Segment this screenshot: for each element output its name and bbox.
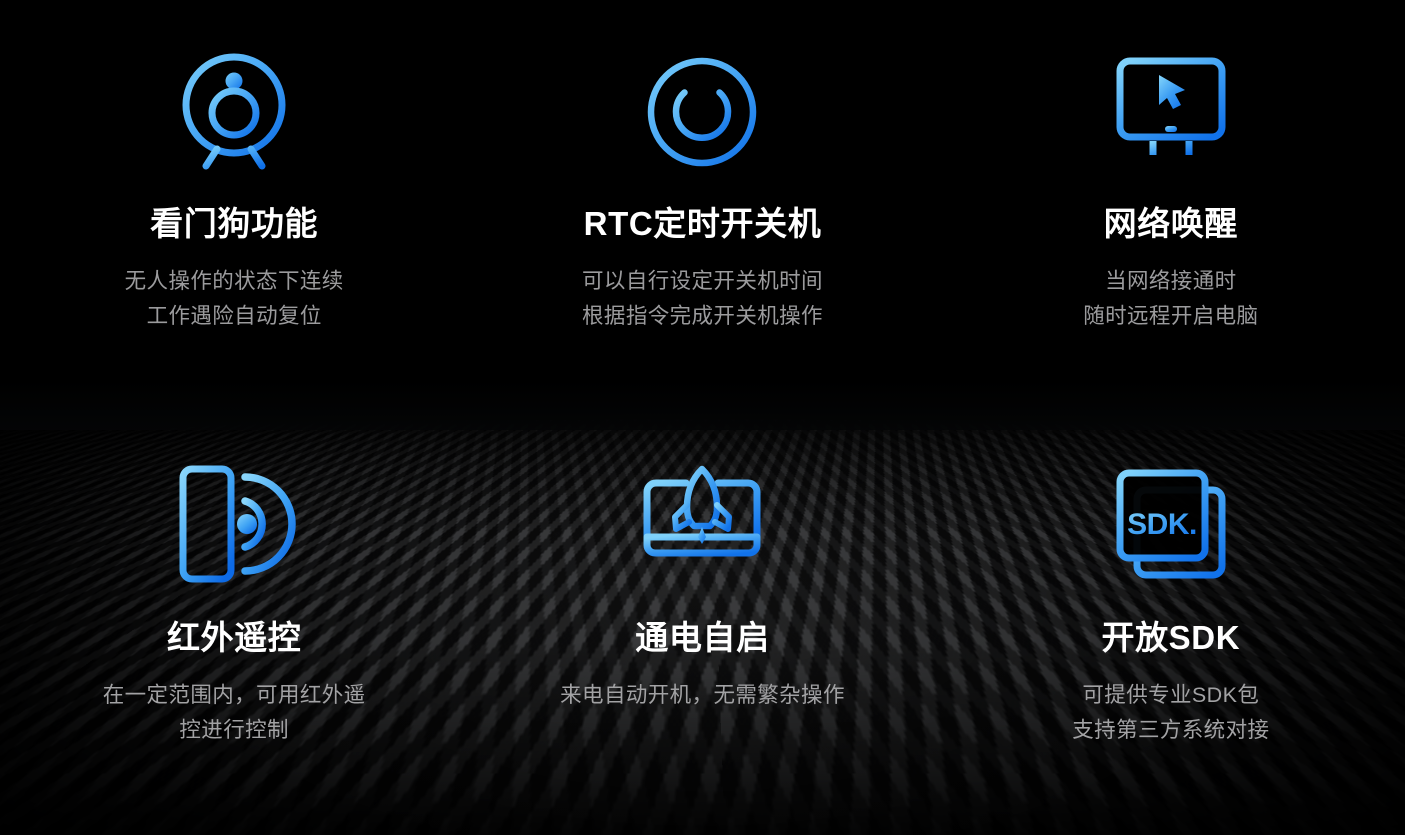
- desc-line: 可提供专业SDK包: [1072, 678, 1269, 713]
- feature-title: 通电自启: [635, 618, 769, 658]
- feature-description: 在一定范围内，可用红外遥 控进行控制: [103, 678, 366, 748]
- desc-line: 无人操作的状态下连续: [125, 264, 344, 299]
- desc-line: 当网络接通时: [1083, 264, 1258, 299]
- desc-line: 随时远程开启电脑: [1083, 299, 1258, 334]
- feature-card-rtc-timer[interactable]: RTC定时开关机 可以自行设定开关机时间 根据指令完成开关机操作: [468, 0, 936, 418]
- feature-description: 无人操作的状态下连续 工作遇险自动复位: [125, 264, 344, 334]
- ir-remote-icon: [154, 454, 314, 594]
- feature-title: 红外遥控: [167, 618, 301, 658]
- sdk-windows-icon: SDK.: [1091, 454, 1251, 594]
- desc-line: 控进行控制: [103, 713, 366, 748]
- feature-title: 看门狗功能: [150, 204, 318, 244]
- desc-line: 可以自行设定开关机时间: [582, 264, 823, 299]
- desc-line: 来电自动开机，无需繁杂操作: [560, 678, 845, 713]
- feature-title: 开放SDK: [1101, 618, 1240, 658]
- feature-description: 来电自动开机，无需繁杂操作: [560, 678, 845, 713]
- feature-card-wake-on-lan[interactable]: 网络唤醒 当网络接通时 随时远程开启电脑: [937, 0, 1405, 418]
- feature-card-ir-remote[interactable]: 红外遥控 在一定范围内，可用红外遥 控进行控制: [0, 418, 468, 835]
- sdk-icon-label: SDK.: [1127, 508, 1197, 541]
- desc-line: 在一定范围内，可用红外遥: [103, 678, 366, 713]
- feature-description: 当网络接通时 随时远程开启电脑: [1083, 264, 1258, 334]
- feature-grid-page: 看门狗功能 无人操作的状态下连续 工作遇险自动复位 RTC定时开关机 可以自行设…: [0, 0, 1405, 835]
- feature-description: 可以自行设定开关机时间 根据指令完成开关机操作: [582, 264, 823, 334]
- feature-title: 网络唤醒: [1104, 204, 1238, 244]
- monitor-rocket-icon: [622, 454, 782, 594]
- webcam-icon: [154, 42, 314, 182]
- feature-description: 可提供专业SDK包 支持第三方系统对接: [1072, 678, 1269, 748]
- monitor-play-icon: [1091, 42, 1251, 182]
- feature-card-auto-power-on[interactable]: 通电自启 来电自动开机，无需繁杂操作: [468, 418, 936, 835]
- features-grid: 看门狗功能 无人操作的状态下连续 工作遇险自动复位 RTC定时开关机 可以自行设…: [0, 0, 1405, 835]
- power-icon: [622, 42, 782, 182]
- desc-line: 工作遇险自动复位: [125, 299, 344, 334]
- feature-card-open-sdk[interactable]: SDK. 开放SDK 可提供专业SDK包 支持第三方系统对接: [937, 418, 1405, 835]
- desc-line: 支持第三方系统对接: [1072, 713, 1269, 748]
- feature-card-watchdog[interactable]: 看门狗功能 无人操作的状态下连续 工作遇险自动复位: [0, 0, 468, 418]
- desc-line: 根据指令完成开关机操作: [582, 299, 823, 334]
- feature-title: RTC定时开关机: [584, 204, 822, 244]
